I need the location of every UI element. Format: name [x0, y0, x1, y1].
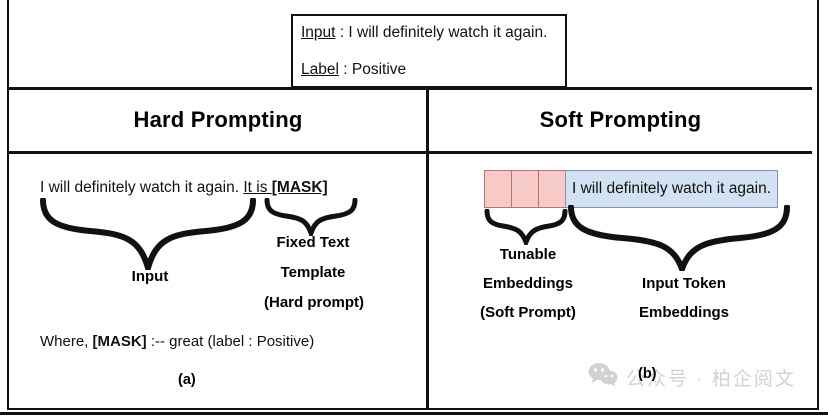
tunable-embeddings-brace — [484, 209, 570, 245]
input-token-brace-label-line1: Input Token — [620, 275, 748, 292]
input-line: Input : I will definitely watch it again… — [301, 23, 565, 43]
input-token-brace-label-line2: Embeddings — [620, 304, 748, 321]
input-brace — [40, 198, 260, 270]
mask-mapping-prefix: Where, — [40, 333, 93, 350]
input-token-embeddings-brace — [568, 205, 792, 271]
input-token-embedding-text: I will definitely watch it again. — [572, 180, 771, 198]
hard-prompting-header: Hard Prompting — [9, 100, 427, 140]
hard-prompt-sentence: I will definitely watch it again. It is … — [40, 179, 328, 197]
label-separator: : — [339, 61, 352, 78]
fixed-text-brace — [264, 198, 362, 236]
soft-prompting-header-label: Soft Prompting — [540, 107, 702, 133]
fixed-text-brace-label-line2: Template — [258, 264, 368, 281]
tunable-embedding-cell — [484, 170, 512, 208]
tunable-brace-label-line1: Tunable — [480, 246, 576, 263]
input-label-box: Input : I will definitely watch it again… — [291, 14, 567, 88]
input-value-text: I will definitely watch it again. — [348, 24, 547, 41]
soft-prompting-header: Soft Prompting — [429, 100, 812, 140]
wechat-icon — [588, 362, 618, 393]
input-brace-label: Input — [110, 268, 190, 285]
tunable-brace-label-line2: Embeddings — [462, 275, 594, 292]
label-line: Label : Positive — [301, 60, 565, 80]
soft-prompt-token-strip: I will definitely watch it again. — [484, 170, 778, 208]
mask-mapping-token: [MASK] — [93, 333, 147, 350]
mask-mapping-note: Where, [MASK] :-- great (label : Positiv… — [40, 333, 314, 350]
mask-mapping-suffix: :-- great (label : Positive) — [147, 333, 315, 350]
subfigure-caption-b: (b) — [638, 366, 657, 382]
subfigure-caption-a: (a) — [178, 372, 196, 388]
hard-prompt-template-text: It is — [243, 179, 271, 196]
hard-prompt-mask-token: [MASK] — [272, 179, 328, 196]
tunable-brace-label-line3: (Soft Prompt) — [462, 304, 594, 321]
header-bottom-rule — [9, 151, 812, 154]
input-token-embedding-cell: I will definitely watch it again. — [565, 170, 778, 208]
label-key-label: Label — [301, 61, 339, 78]
wechat-watermark: 公众号 · 柏企阅文 — [588, 362, 796, 393]
header-top-rule — [9, 87, 812, 90]
figure-bottom-edge — [0, 412, 828, 415]
hard-prompting-header-label: Hard Prompting — [133, 107, 302, 133]
fixed-text-brace-label-line1: Fixed Text — [258, 234, 368, 251]
label-value-text: Positive — [352, 61, 406, 78]
tunable-embedding-cell — [511, 170, 539, 208]
input-separator: : — [335, 24, 348, 41]
prompting-comparison-figure: Input : I will definitely watch it again… — [0, 0, 828, 419]
input-key-label: Input — [301, 24, 335, 41]
fixed-text-brace-label-line3: (Hard prompt) — [240, 294, 388, 311]
hard-prompt-input-text: I will definitely watch it again. — [40, 179, 243, 196]
tunable-embedding-cell — [538, 170, 566, 208]
